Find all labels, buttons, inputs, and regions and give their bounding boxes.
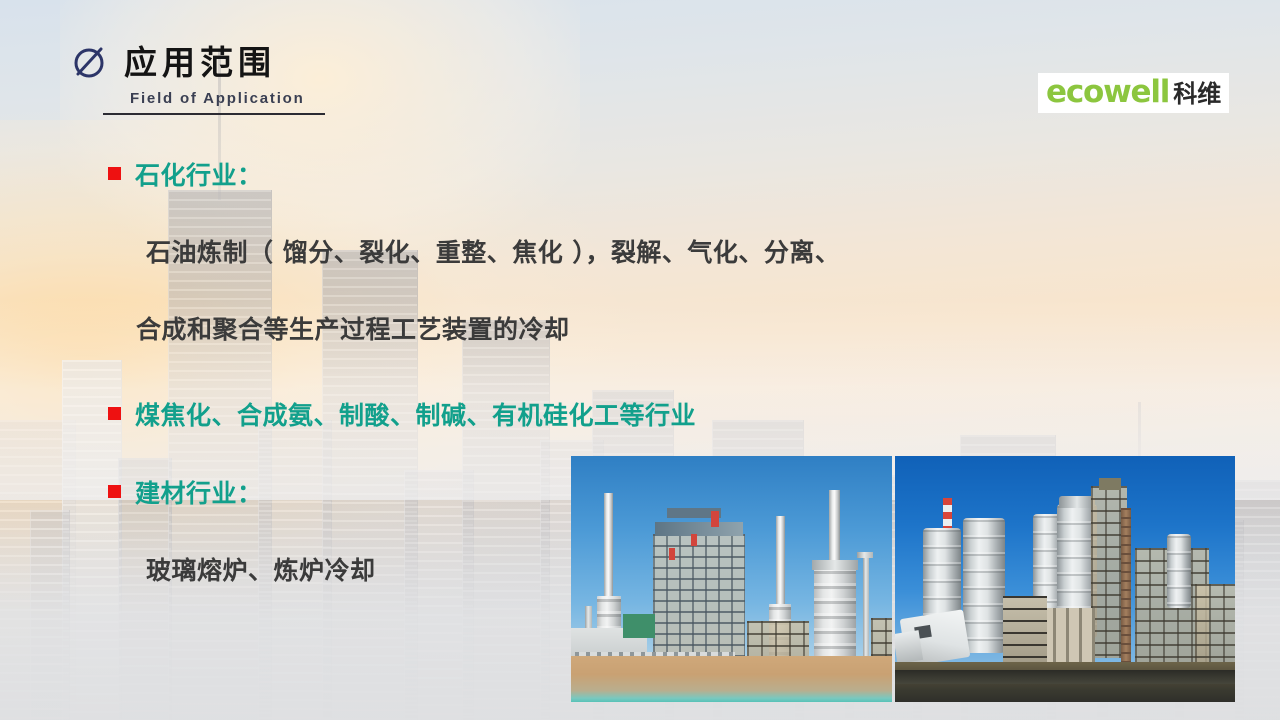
bullet-square-icon: [108, 485, 121, 498]
slide-root: 应用范围 Field of Application ecowell 科维 石化行…: [0, 0, 1280, 720]
bullet-square-icon: [108, 407, 121, 420]
list-item-label: 石油炼制（ 馏分、裂化、重整、焦化 ），裂解、气化、分离、: [146, 233, 840, 269]
list-item: 石化行业：: [108, 156, 263, 192]
list-item-label: 玻璃熔炉、炼炉冷却: [146, 551, 376, 587]
bullet-square-icon: [108, 167, 121, 180]
list-item: 建材行业：: [108, 474, 263, 510]
petrochemical-refinery-photo: [571, 456, 892, 702]
list-item-label: 建材行业：: [135, 474, 263, 510]
list-item: 石油炼制（ 馏分、裂化、重整、焦化 ），裂解、气化、分离、: [146, 233, 840, 269]
industrial-plant-photo: [895, 456, 1235, 702]
list-item-label: 合成和聚合等生产过程工艺装置的冷却: [136, 310, 570, 346]
list-item-label: 石化行业：: [135, 156, 263, 192]
list-item: 合成和聚合等生产过程工艺装置的冷却: [136, 310, 570, 346]
list-item: 煤焦化、合成氨、制酸、制碱、有机硅化工等行业: [108, 396, 696, 432]
list-item-label: 煤焦化、合成氨、制酸、制碱、有机硅化工等行业: [135, 396, 696, 432]
list-item: 玻璃熔炉、炼炉冷却: [146, 551, 376, 587]
